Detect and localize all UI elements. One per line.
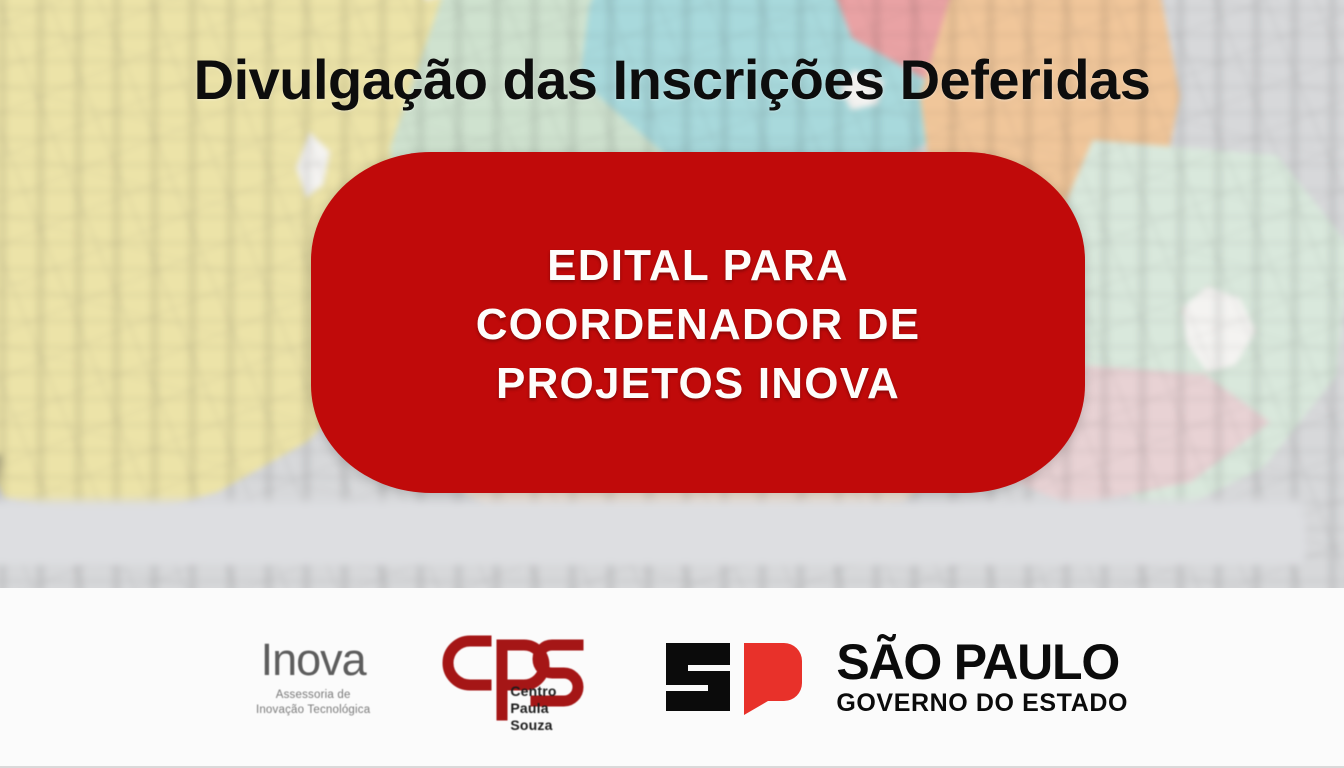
- logo-row: Inova Assessoria de Inovação Tecnológica: [0, 588, 1344, 766]
- banner-slide: Divulgação das Inscrições Deferidas EDIT…: [0, 0, 1344, 768]
- inova-tagline-line-2: Inovação Tecnológica: [256, 703, 370, 717]
- edital-callout-text: EDITAL PARA COORDENADOR DE PROJETOS INOV…: [311, 152, 1085, 493]
- callout-line-2: COORDENADOR DE: [476, 296, 921, 353]
- inova-tagline: Assessoria de Inovação Tecnológica: [256, 688, 370, 716]
- callout-line-3: PROJETOS INOVA: [496, 355, 900, 412]
- cps-name: Centro Paula Souza: [510, 683, 590, 734]
- centro-paula-souza-logo: Centro Paula Souza: [440, 631, 590, 723]
- cps-name-line-1: Centro: [510, 683, 590, 700]
- callout-line-1: EDITAL PARA: [547, 237, 849, 294]
- inova-wordmark: Inova: [261, 637, 366, 682]
- sp-wordmark: SÃO PAULO GOVERNO DO ESTADO: [836, 637, 1128, 718]
- sao-paulo-government-logo: SÃO PAULO GOVERNO DO ESTADO: [660, 635, 1128, 719]
- footer-logo-bar: Inova Assessoria de Inovação Tecnológica: [0, 588, 1344, 768]
- page-title: Divulgação das Inscrições Deferidas: [0, 47, 1344, 112]
- inova-tagline-line-1: Assessoria de: [256, 688, 370, 702]
- edital-callout-badge: EDITAL PARA COORDENADOR DE PROJETOS INOV…: [311, 152, 1085, 493]
- sp-logo-icon: [660, 635, 820, 719]
- map-ocean: [0, 500, 1304, 560]
- sp-subtitle: GOVERNO DO ESTADO: [836, 690, 1128, 718]
- sp-title: SÃO PAULO: [836, 637, 1128, 688]
- cps-name-line-2: Paula Souza: [510, 700, 590, 734]
- inova-logo: Inova Assessoria de Inovação Tecnológica: [256, 637, 370, 716]
